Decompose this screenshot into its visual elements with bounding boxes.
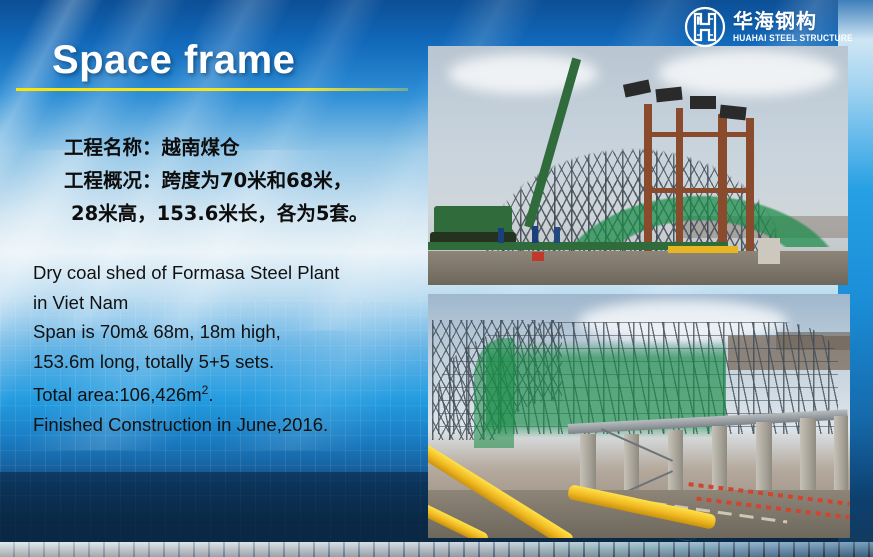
chinese-line-overview-1: 工程概况：跨度为70米和68米， (64, 164, 424, 197)
english-line-4: 153.6m long, totally 5+5 sets. (33, 347, 428, 377)
chinese-description-block: 工程名称：越南煤仓 工程概况：跨度为70米和68米， 28米高，153.6米长，… (64, 131, 424, 230)
slide-title: Space frame (52, 38, 295, 83)
photo-arched-space-frame-construction (428, 46, 848, 285)
title-underline-rule (16, 88, 408, 91)
english-line-finished: Finished Construction in June,2016. (33, 410, 428, 440)
company-logo: 华海钢构 HUAHAI STEEL STRUCTURE (684, 4, 870, 50)
roof-panel (719, 105, 746, 121)
photo-barrel-vault-space-frame (428, 294, 850, 538)
worker-figure (554, 227, 560, 243)
logo-chinese-name: 华海钢构 (733, 11, 862, 31)
english-line-1: Dry coal shed of Formasa Steel Plant (33, 258, 428, 288)
logo-wordmark: 华海钢构 HUAHAI STEEL STRUCTURE (733, 11, 862, 43)
huahai-circular-h-emblem-icon (684, 6, 726, 48)
background-bottom-squares-strip (0, 542, 873, 557)
presentation-slide: 华海钢构 HUAHAI STEEL STRUCTURE Space frame … (0, 0, 873, 557)
worker-figure (498, 228, 504, 243)
logo-english-name: HUAHAI STEEL STRUCTURE (733, 34, 853, 43)
english-line-2: in Viet Nam (33, 288, 428, 318)
total-area-period: . (208, 384, 213, 405)
english-line-3: Span is 70m& 68m, 18m high, (33, 317, 428, 347)
total-area-text: Total area:106,426m (33, 384, 202, 405)
english-line-total-area: Total area:106,426m2. (33, 376, 428, 410)
construction-ground (428, 251, 848, 285)
chinese-line-overview-2: 28米高，153.6米长，各为5套。 (64, 197, 424, 230)
tower-crossbeam (644, 132, 754, 137)
tower-crossbeam (644, 188, 754, 193)
roof-panel (690, 96, 716, 109)
worker-figure (532, 226, 538, 243)
yellow-material-stack (668, 246, 738, 253)
roof-panel (655, 87, 682, 103)
green-safety-mesh (550, 142, 848, 247)
site-building (758, 238, 780, 264)
red-equipment (532, 252, 544, 261)
green-mesh-end (474, 338, 514, 448)
chinese-line-project-name: 工程名称：越南煤仓 (64, 131, 424, 164)
english-description-block: Dry coal shed of Formasa Steel Plant in … (33, 258, 428, 439)
